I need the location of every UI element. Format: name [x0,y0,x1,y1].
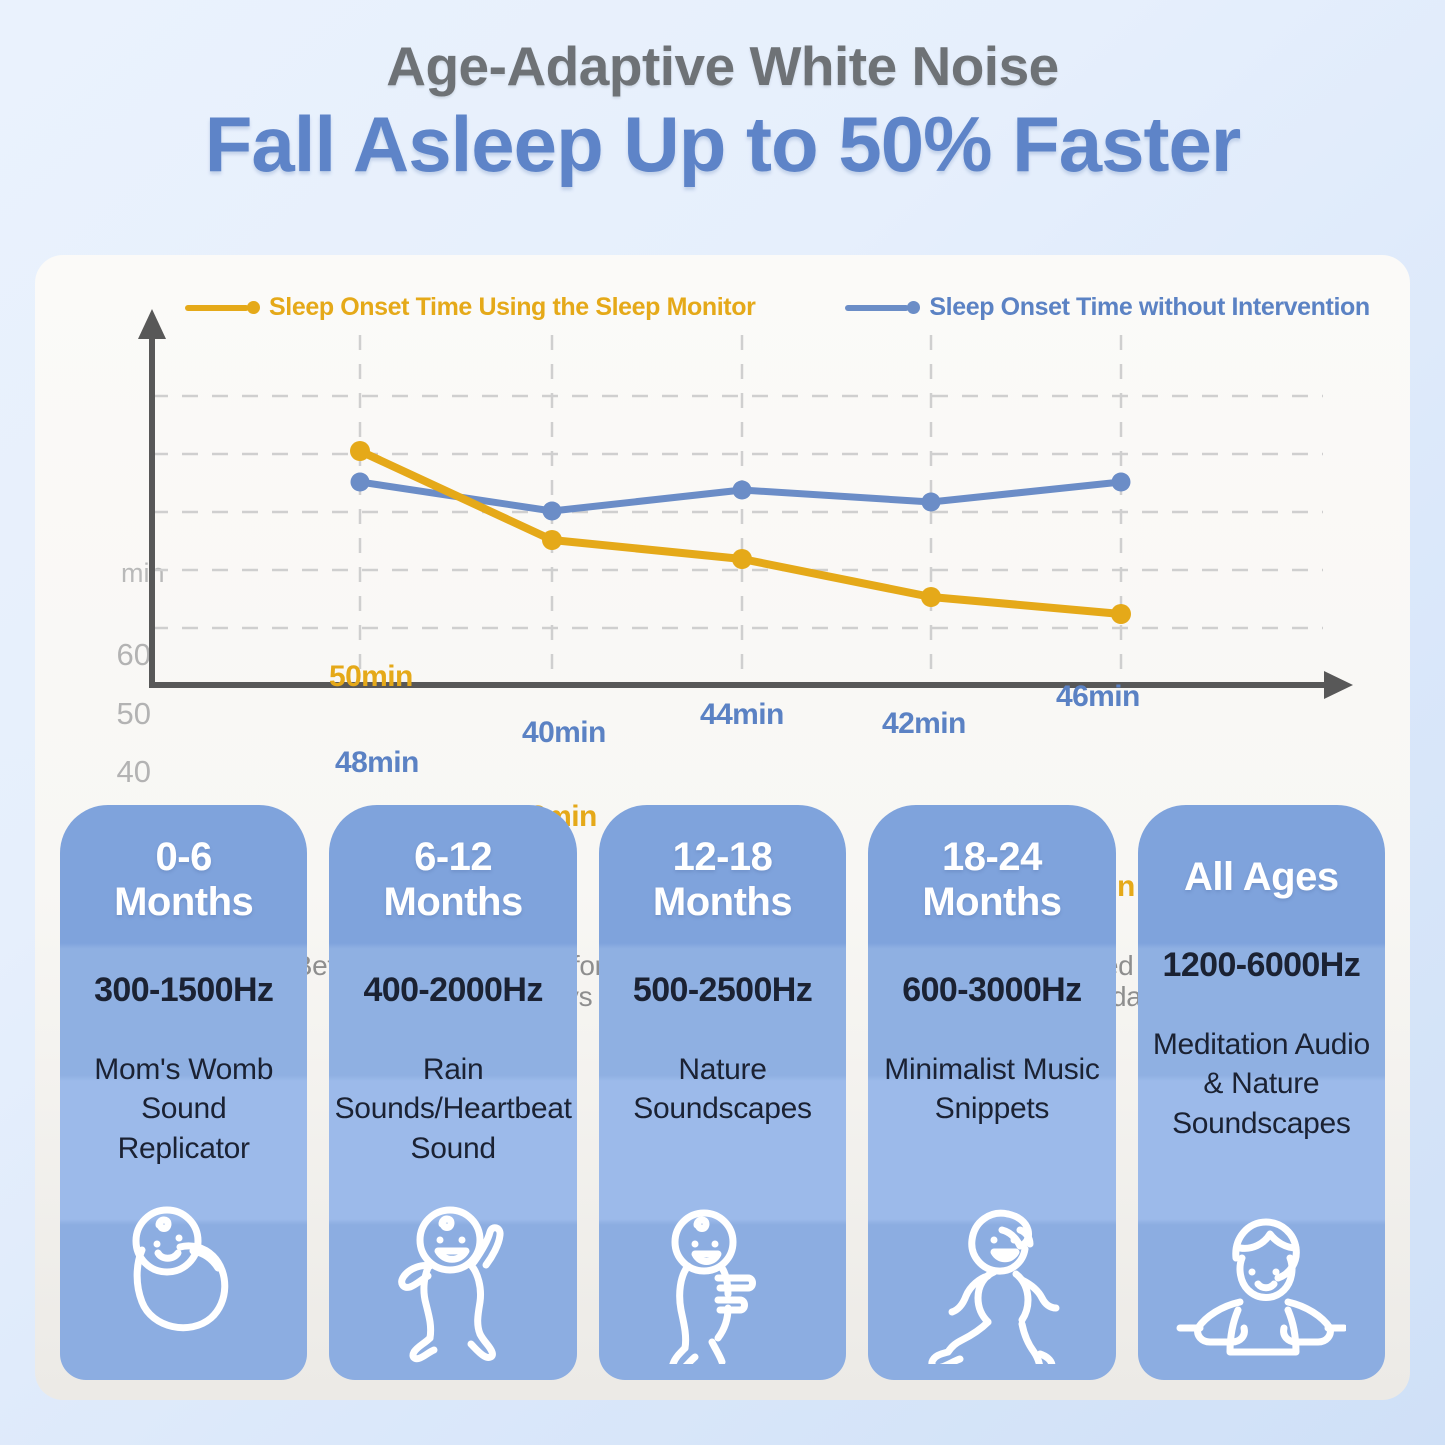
horizontal-gridlines [152,396,1323,628]
data-label-monitor-0: 50min [329,660,413,694]
data-label-no-intervention-3: 42min [882,707,966,741]
card-frequency: 1200-6000Hz [1163,946,1361,985]
card-description: Rain Sounds/Heartbeat Sound [329,1050,576,1169]
data-label-no-intervention-0: 48min [335,746,419,780]
age-card-6-12-months[interactable]: 6-12 Months 400-2000Hz Rain Sounds/Heart… [329,805,576,1380]
card-frequency: 500-2500Hz [633,971,812,1010]
crawling-baby-icon [648,1204,798,1364]
age-card-0-6-months[interactable]: 0-6 Months 300-1500Hz Mom's Womb Sound R… [60,805,307,1380]
header-subtitle: Age-Adaptive White Noise [0,38,1445,96]
data-label-no-intervention-1: 40min [522,716,606,750]
card-description: Mom's Womb Sound Replicator [60,1050,307,1169]
age-card-18-24-months[interactable]: 18-24 Months 600-3000Hz Minimalist Music… [868,805,1115,1380]
page-header: Age-Adaptive White Noise Fall Asleep Up … [0,0,1445,186]
series-line-monitor [360,451,1121,614]
swaddled-baby-icon [109,1204,259,1364]
running-child-icon [912,1204,1072,1364]
meditating-person-icon [1176,1214,1346,1364]
card-title: All Ages [1184,855,1339,900]
age-cards-row: 0-6 Months 300-1500Hz Mom's Womb Sound R… [60,805,1385,1380]
age-card-all-ages[interactable]: All Ages 1200-6000Hz Meditation Audio & … [1138,805,1385,1380]
card-title: 6-12 Months [384,835,523,925]
card-frequency: 600-3000Hz [902,971,1081,1010]
card-frequency: 300-1500Hz [94,971,273,1010]
card-title: 0-6 Months [114,835,253,925]
card-description: Meditation Audio & Nature Soundscapes [1138,1025,1385,1144]
card-description: Nature Soundscapes [599,1050,846,1129]
data-label-no-intervention-4: 46min [1056,680,1140,714]
sleep-onset-chart: Sleep Onset Time Using the Sleep Monitor… [35,255,1410,775]
data-label-no-intervention-2: 44min [700,698,784,732]
card-title: 18-24 Months [922,835,1061,925]
header-title: Fall Asleep Up to 50% Faster [0,102,1445,186]
series-points-monitor [350,441,1131,624]
card-frequency: 400-2000Hz [363,971,542,1010]
waving-baby-icon [378,1204,528,1364]
chart-plot-area [35,255,1410,775]
card-title: 12-18 Months [653,835,792,925]
chart-axes [138,309,1353,699]
card-description: Minimalist Music Snippets [868,1050,1115,1129]
age-card-12-18-months[interactable]: 12-18 Months 500-2500Hz Nature Soundscap… [599,805,846,1380]
